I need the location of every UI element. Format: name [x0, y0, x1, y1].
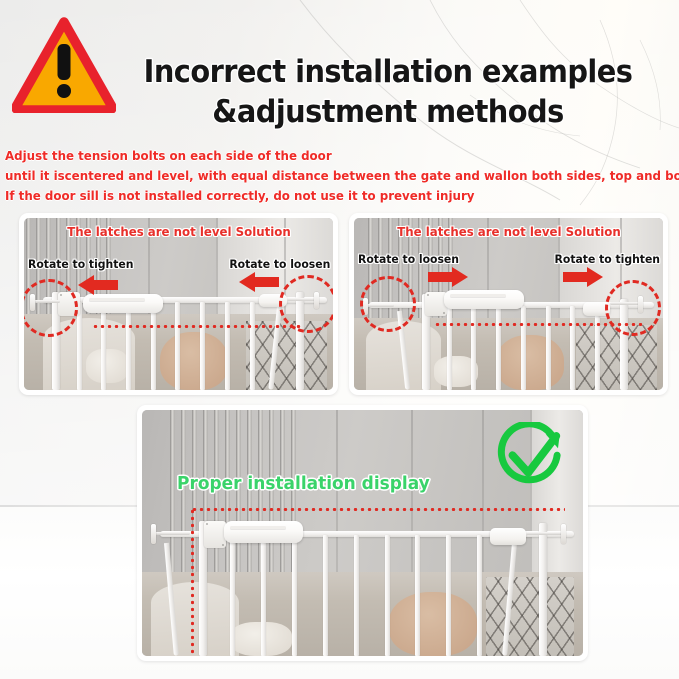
panel-right-title: The latches are not level Solution: [397, 224, 620, 239]
panel-left-caption-left: Rotate to tighten: [28, 257, 133, 271]
gate-bar: [354, 535, 359, 656]
warning-triangle-icon: [12, 17, 116, 113]
gate-handle: [224, 521, 303, 543]
blanket: [151, 582, 239, 656]
arrow-right-loosen: [426, 267, 470, 287]
dashed-marker-right: [605, 280, 661, 336]
instruction-line-3: If the door sill is not installed correc…: [5, 186, 647, 206]
instruction-line-2: until it iscentered and level, with equa…: [5, 166, 647, 186]
baby: [496, 335, 564, 390]
tension-bolt-cap-right: [561, 524, 566, 544]
instructions: Adjust the tension bolts on each side of…: [5, 146, 647, 206]
page-background: Incorrect installation examples &adjustm…: [0, 0, 679, 679]
tension-bolt-cap-left: [151, 524, 156, 544]
gate-latch: [490, 528, 525, 545]
pillow: [86, 349, 129, 383]
panel-right-photo: The latches are not level Solution Rotat…: [354, 218, 663, 390]
panel-right-caption-right: Rotate to tighten: [555, 252, 660, 266]
panel-left-photo: The latches are not level Solution Rotat…: [24, 218, 333, 390]
tension-bolt-right: [526, 532, 566, 535]
patterned-cushion: [486, 577, 574, 656]
gate-bar: [415, 535, 420, 656]
instruction-line-1: Adjust the tension bolts on each side of…: [5, 146, 647, 166]
panel-right: The latches are not level Solution Rotat…: [349, 213, 668, 395]
gate-bar: [521, 306, 526, 390]
gate-bar: [595, 306, 600, 390]
gate-bar: [126, 302, 131, 390]
panel-left-caption-right: Rotate to loosen: [229, 257, 330, 271]
title-line-2: &adjustment methods: [128, 92, 649, 132]
gate-bar: [101, 302, 106, 390]
page-title: Incorrect installation examples &adjustm…: [128, 52, 649, 132]
gate-bar: [250, 302, 255, 390]
gate-post-right: [539, 523, 547, 656]
gate-bar: [477, 535, 482, 656]
arrow-right-tighten: [561, 267, 605, 287]
arrow-left-tighten: [76, 275, 120, 295]
panel-bottom-photo: Proper installation display: [142, 410, 583, 656]
level-reference-line: [191, 508, 566, 511]
gate-bar: [546, 306, 551, 390]
gate-bar: [230, 535, 235, 656]
baby: [160, 332, 228, 390]
gate-bar: [496, 306, 501, 390]
panel-left: The latches are not level Solution Rotat…: [19, 213, 338, 395]
gate-hinge-plate: [204, 521, 226, 548]
gate-handle: [444, 290, 524, 309]
panel-bottom-title: Proper installation display: [177, 474, 430, 494]
gate-bar: [151, 302, 156, 390]
gate-bar: [292, 535, 297, 656]
gate-bar: [570, 306, 575, 390]
header: Incorrect installation examples &adjustm…: [0, 0, 679, 205]
gate-bar: [446, 535, 451, 656]
gate-bar: [447, 306, 452, 390]
panel-left-title: The latches are not level Solution: [67, 224, 290, 239]
panel-bottom: Proper installation display: [137, 405, 588, 661]
gate-bar: [471, 306, 476, 390]
gate-bar: [323, 535, 328, 656]
patterned-cushion: [576, 325, 656, 390]
gate-bar: [200, 302, 205, 390]
arrow-left-loosen: [237, 272, 281, 292]
gate-bar: [175, 302, 180, 390]
level-reference-line: [92, 325, 302, 328]
gate-bar: [385, 535, 390, 656]
level-reference-line: [434, 323, 644, 326]
dashed-marker-left: [360, 276, 416, 332]
gate-handle: [83, 294, 163, 313]
panel-right-caption-left: Rotate to loosen: [358, 252, 459, 266]
baby: [389, 592, 477, 656]
gate-bar: [261, 535, 266, 656]
tension-bolt-left: [155, 532, 190, 535]
green-check-circle-icon: [495, 422, 565, 492]
alignment-reference-line: [191, 508, 194, 656]
gate-bar: [225, 302, 230, 390]
title-line-1: Incorrect installation examples: [144, 54, 633, 90]
